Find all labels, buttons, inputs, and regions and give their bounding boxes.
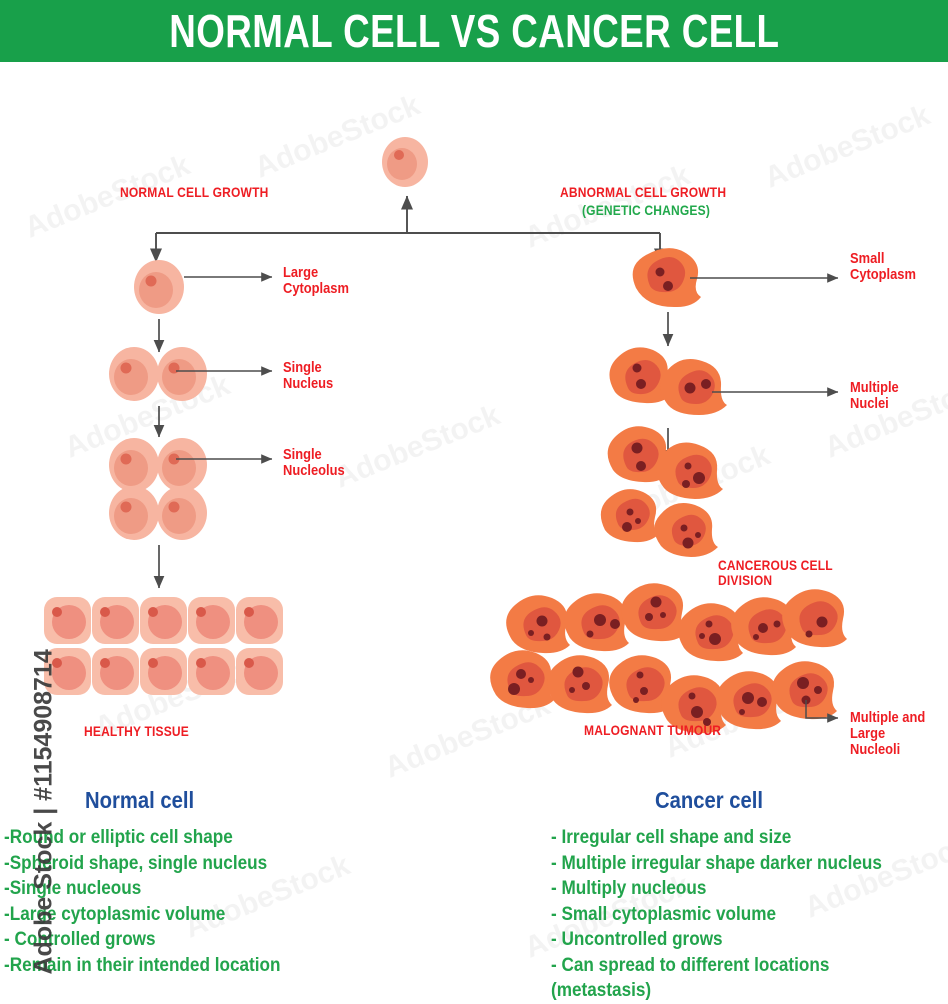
normal-cell-stage1 — [134, 260, 184, 314]
malignant-tumour-label: MALOGNANT TUMOUR — [584, 723, 721, 738]
abnormal-growth-heading: ABNORMAL CELL GROWTH — [560, 185, 726, 200]
normal-cell-bullets: -Round or elliptic cell shape -Spheroid … — [4, 825, 280, 978]
cancerous-division-label: CANCEROUS CELL DIVISION — [718, 558, 833, 588]
genetic-changes-subheading: (GENETIC CHANGES) — [582, 203, 710, 218]
normal-cell-stage3 — [109, 438, 207, 540]
normal-cell-stage2 — [109, 347, 207, 401]
origin-cell — [382, 137, 428, 187]
normal-cell-column-title: Normal cell — [85, 787, 194, 814]
callout-large-cytoplasm: Large Cytoplasm — [283, 265, 349, 297]
malignant-tumour — [490, 583, 847, 733]
callout-single-nucleolus: Single Nucleolus — [283, 447, 345, 479]
cancer-cell-stage2 — [609, 347, 727, 415]
cancer-cell-column-title: Cancer cell — [655, 787, 763, 814]
cancer-cell-bullets: - Irregular cell shape and size - Multip… — [551, 825, 882, 1004]
callout-single-nucleus: Single Nucleus — [283, 360, 333, 392]
callout-small-cytoplasm: Small Cytoplasm — [850, 251, 916, 283]
healthy-tissue-label: HEALTHY TISSUE — [84, 724, 189, 739]
diagram-canvas: AdobeStock AdobeStock AdobeStock AdobeSt… — [0, 0, 948, 1000]
callout-multiple-nuclei: Multiple Nuclei — [850, 380, 899, 412]
callout-multiple-large-nucleoli: Multiple and Large Nucleoli — [850, 710, 934, 758]
cancer-cell-stage3 — [601, 426, 723, 557]
normal-growth-heading: NORMAL CELL GROWTH — [120, 185, 268, 200]
healthy-tissue — [44, 597, 283, 695]
